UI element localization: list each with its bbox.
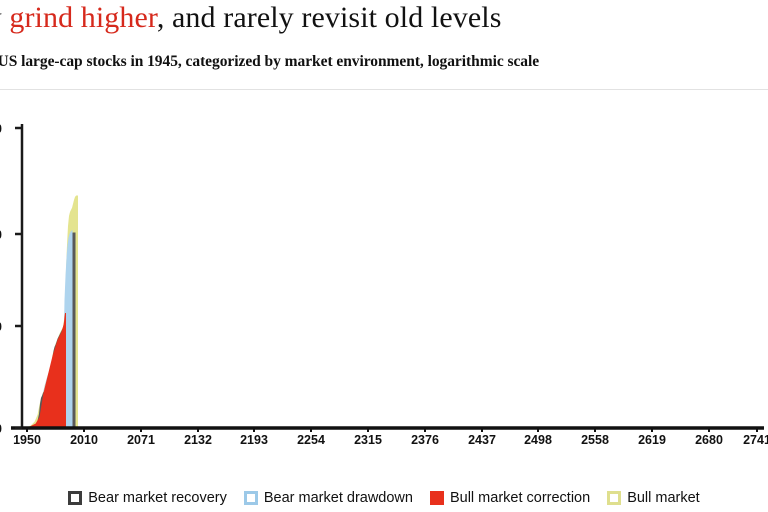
chart-legend: Bear market recovery Bear market drawdow… <box>0 484 768 512</box>
x-axis-tick-label: 1950 <box>13 433 41 447</box>
legend-swatch-bull-market <box>607 491 621 505</box>
legend-label-bear-market-drawdown: Bear market drawdown <box>264 490 413 506</box>
legend-item-bull-market[interactable]: Bull market <box>607 490 700 506</box>
y-axis-tick-label: 0 <box>0 320 2 334</box>
x-axis-tick-label: 2498 <box>524 433 552 447</box>
x-axis-tick-label: 2254 <box>297 433 325 447</box>
y-axis-tick-label: 0 <box>0 422 2 436</box>
legend-label-bull-market-correction: Bull market correction <box>450 490 590 506</box>
series-bull-market-correction <box>24 313 66 428</box>
chart-subtitle: 00 invested in US large-cap stocks in 19… <box>0 53 539 71</box>
title-suffix: , and rarely revisit old levels <box>157 1 502 34</box>
x-axis-tick-labels: 1950201020712132219322542315237624372498… <box>13 433 768 447</box>
legend-swatch-bear-market-drawdown <box>244 491 258 505</box>
legend-swatch-bull-market-correction <box>430 491 444 505</box>
series-layers <box>24 196 78 428</box>
x-axis-tick-label: 2437 <box>468 433 496 447</box>
x-axis-tick-label: 2010 <box>70 433 98 447</box>
x-axis-tick-label: 2132 <box>184 433 212 447</box>
x-axis-tick-label: 2680 <box>695 433 723 447</box>
x-axis-tick-label: 2376 <box>411 433 439 447</box>
stacked-area-chart: 1950201020712132219322542315237624372498… <box>0 90 768 450</box>
title-highlight: grind higher <box>9 1 156 34</box>
x-axis-tick-label: 2558 <box>581 433 609 447</box>
x-axis-tick-label: 2071 <box>127 433 155 447</box>
y-axis-tick-labels: 0000 <box>0 122 2 436</box>
x-axis-tick-label: 2619 <box>638 433 666 447</box>
chart-plot-area: 1950201020712132219322542315237624372498… <box>0 90 768 450</box>
title-prefix: s usually <box>0 1 9 34</box>
legend-swatch-bear-market-recovery <box>68 491 82 505</box>
x-axis-tick-label: 2315 <box>354 433 382 447</box>
legend-item-bear-market-drawdown[interactable]: Bear market drawdown <box>244 490 413 506</box>
y-axis-tick-label: 0 <box>0 228 2 242</box>
x-axis-tick-label: 2741 <box>743 433 768 447</box>
legend-label-bear-market-recovery: Bear market recovery <box>88 490 227 506</box>
chart-axes: 1950201020712132219322542315237624372498… <box>0 122 768 447</box>
legend-item-bull-market-correction[interactable]: Bull market correction <box>430 490 590 506</box>
y-axis-tick-label: 0 <box>0 122 2 136</box>
x-axis-tick-label: 2193 <box>240 433 268 447</box>
legend-label-bull-market: Bull market <box>627 490 700 506</box>
legend-item-bear-market-recovery[interactable]: Bear market recovery <box>68 490 227 506</box>
chart-header: s usually grind higher, and rarely revis… <box>0 0 768 90</box>
page-title: s usually grind higher, and rarely revis… <box>0 1 501 35</box>
